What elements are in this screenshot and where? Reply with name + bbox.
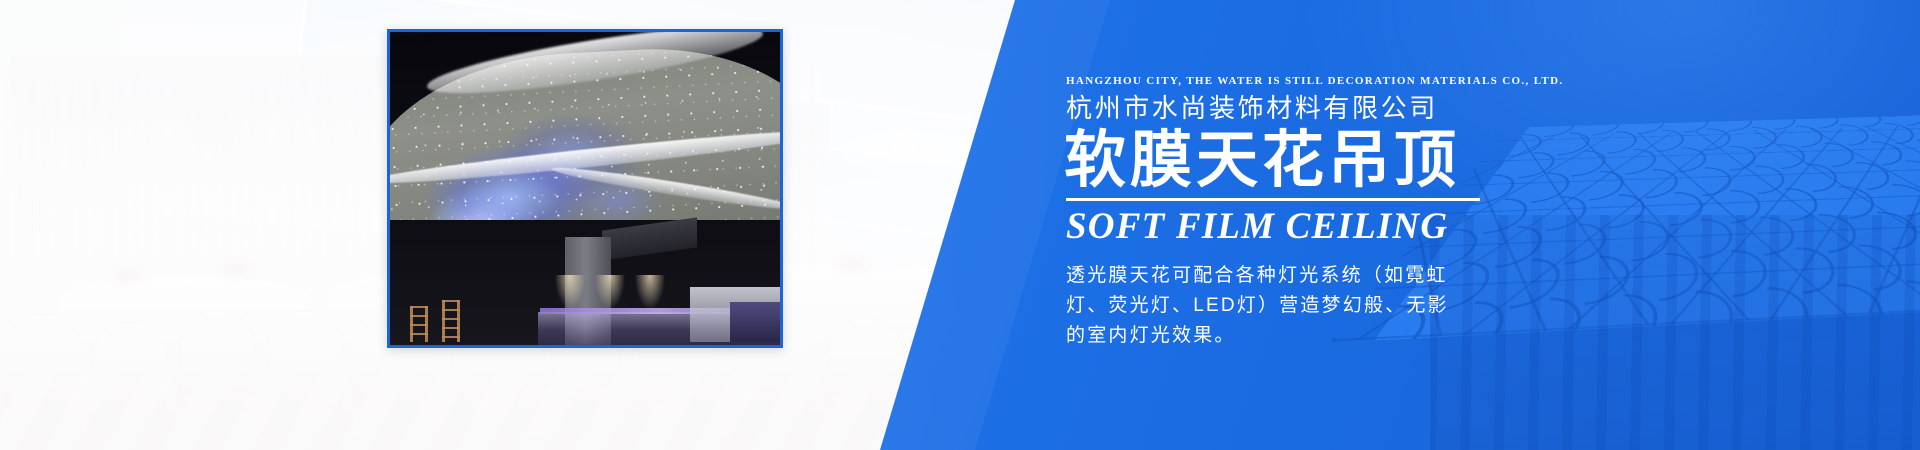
starry-ceiling-photo (387, 29, 783, 348)
headline-divider (1066, 198, 1480, 201)
photo-spotlight (595, 275, 625, 309)
product-description: 透光膜天花可配合各种灯光系统（如霓虹灯、荧光灯、LED灯）营造梦幻般、无影的室内… (1066, 261, 1466, 351)
photo-spotlight (555, 275, 585, 309)
photo-ladder (410, 306, 428, 342)
company-name-english: HANGZHOU CITY, THE WATER IS STILL DECORA… (1066, 74, 1534, 88)
photo-right-fixture (730, 302, 780, 342)
headline-english: SOFT FILM CEILING (1066, 206, 1534, 248)
company-name-chinese: 杭州市水尚装饰材料有限公司 (1066, 91, 1534, 125)
photo-spotlight (635, 275, 665, 309)
headline-chinese: 软膜天花吊顶 (1064, 126, 1534, 196)
photo-ladder (442, 300, 460, 342)
promo-banner: HANGZHOU CITY, THE WATER IS STILL DECORA… (0, 0, 1920, 450)
banner-text-block: HANGZHOU CITY, THE WATER IS STILL DECORA… (1064, 74, 1534, 351)
